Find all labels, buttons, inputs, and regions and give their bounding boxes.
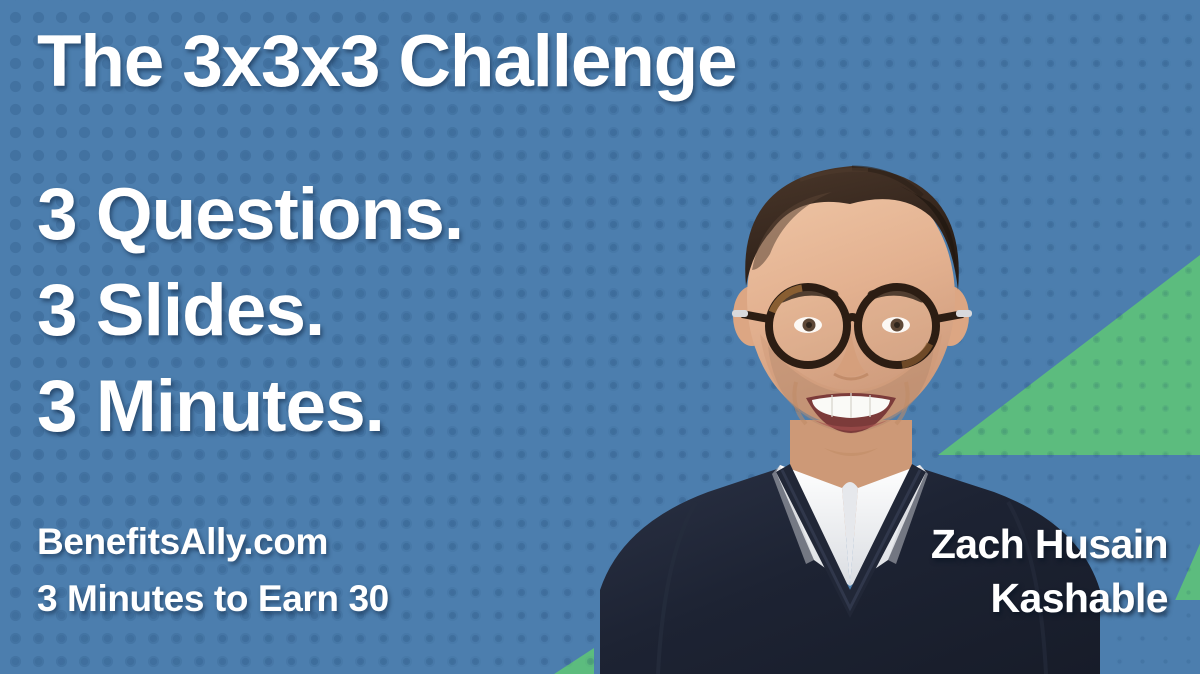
- brand-website-url: BenefitsAlly.com: [37, 523, 328, 560]
- presentation-slide: The 3x3x3 Challenge 3 Questions. 3 Slide…: [0, 0, 1200, 674]
- bullet-line-slides: 3 Slides.: [37, 274, 324, 347]
- brand-tagline: 3 Minutes to Earn 30: [37, 580, 389, 617]
- speaker-company: Kashable: [991, 578, 1169, 619]
- bullet-line-questions: 3 Questions.: [37, 178, 463, 251]
- speaker-name: Zach Husain: [931, 524, 1168, 565]
- bullet-line-minutes: 3 Minutes.: [37, 370, 384, 443]
- slide-headline: The 3x3x3 Challenge: [37, 24, 736, 101]
